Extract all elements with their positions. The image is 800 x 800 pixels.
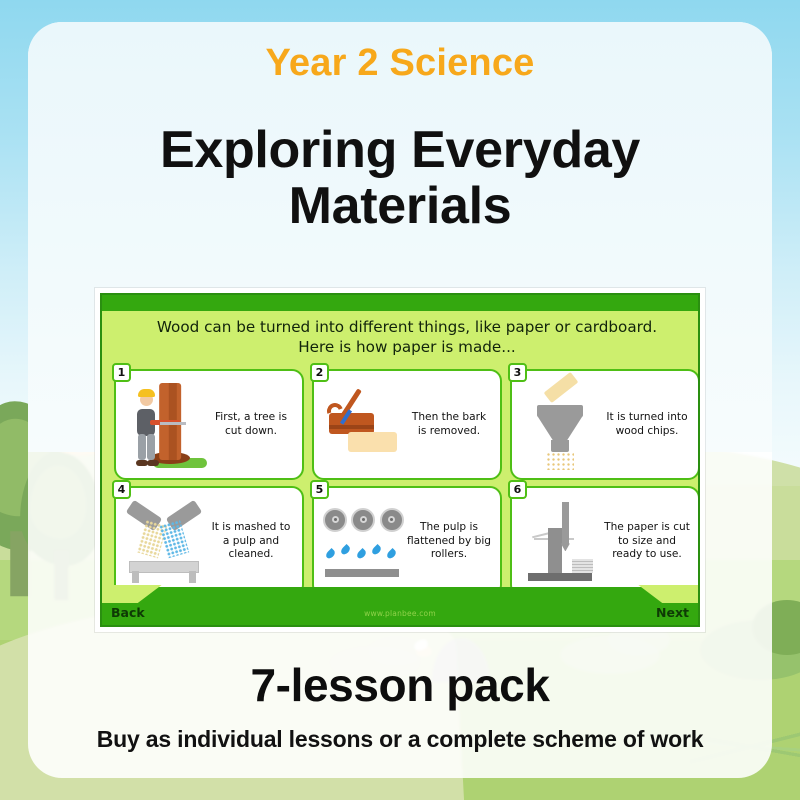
step-caption: The pulp is flattened by big rollers. — [406, 521, 494, 561]
steps-grid: 1 First, a tree is cut down. 2 — [114, 369, 700, 597]
step-card[interactable]: 2 Then the bark is removed. — [312, 369, 502, 480]
slide-thumbnail[interactable]: Wood can be turned into different things… — [95, 288, 705, 632]
step-card[interactable]: 6 The paper is cut to size and ready to … — [510, 486, 700, 597]
step-caption: First, a tree is cut down. — [208, 411, 296, 438]
step-number-badge: 1 — [112, 363, 131, 382]
step-card[interactable]: 5 The pulp is flattened by big roll — [312, 486, 502, 597]
step-card[interactable]: 1 First, a tree is cut down. — [114, 369, 304, 480]
planbee-url: www.planbee.com — [102, 609, 698, 618]
step-caption: It is turned into wood chips. — [604, 411, 692, 438]
pulping-machine-icon — [120, 492, 208, 591]
slide-top-bar — [102, 295, 698, 311]
paper-cutter-icon — [516, 492, 604, 591]
slide-bottom-bar — [102, 587, 698, 625]
step-number-badge: 2 — [310, 363, 329, 382]
page-title-line-2: Materials — [0, 178, 800, 234]
step-caption: It is mashed to a pulp and cleaned. — [208, 521, 296, 561]
page-title-line-1: Exploring Everyday — [0, 122, 800, 178]
slide-heading-line-2: Here is how paper is made... — [116, 337, 698, 357]
page-title: Exploring Everyday Materials — [0, 122, 800, 234]
slide-heading: Wood can be turned into different things… — [116, 317, 698, 358]
step-number-badge: 4 — [112, 480, 131, 499]
plank-chisel-icon — [318, 375, 406, 474]
step-number-badge: 3 — [508, 363, 527, 382]
step-number-badge: 5 — [310, 480, 329, 499]
step-number-badge: 6 — [508, 480, 527, 499]
pack-label: 7-lesson pack — [0, 658, 800, 712]
funnel-chipper-icon — [516, 375, 604, 474]
step-caption: The paper is cut to size and ready to us… — [604, 521, 692, 561]
slide-heading-line-1: Wood can be turned into different things… — [116, 317, 698, 337]
slide-body: Wood can be turned into different things… — [100, 293, 700, 627]
rollers-icon — [318, 492, 406, 591]
subject-kicker: Year 2 Science — [0, 42, 800, 85]
pack-subtitle: Buy as individual lessons or a complete … — [0, 726, 800, 753]
step-card[interactable]: 4 It is mashed to a pulp and cleaned. — [114, 486, 304, 597]
step-caption: Then the bark is removed. — [406, 411, 494, 438]
lumberjack-tree-icon — [120, 375, 208, 474]
step-card[interactable]: 3 It is turned into wood chips. — [510, 369, 700, 480]
